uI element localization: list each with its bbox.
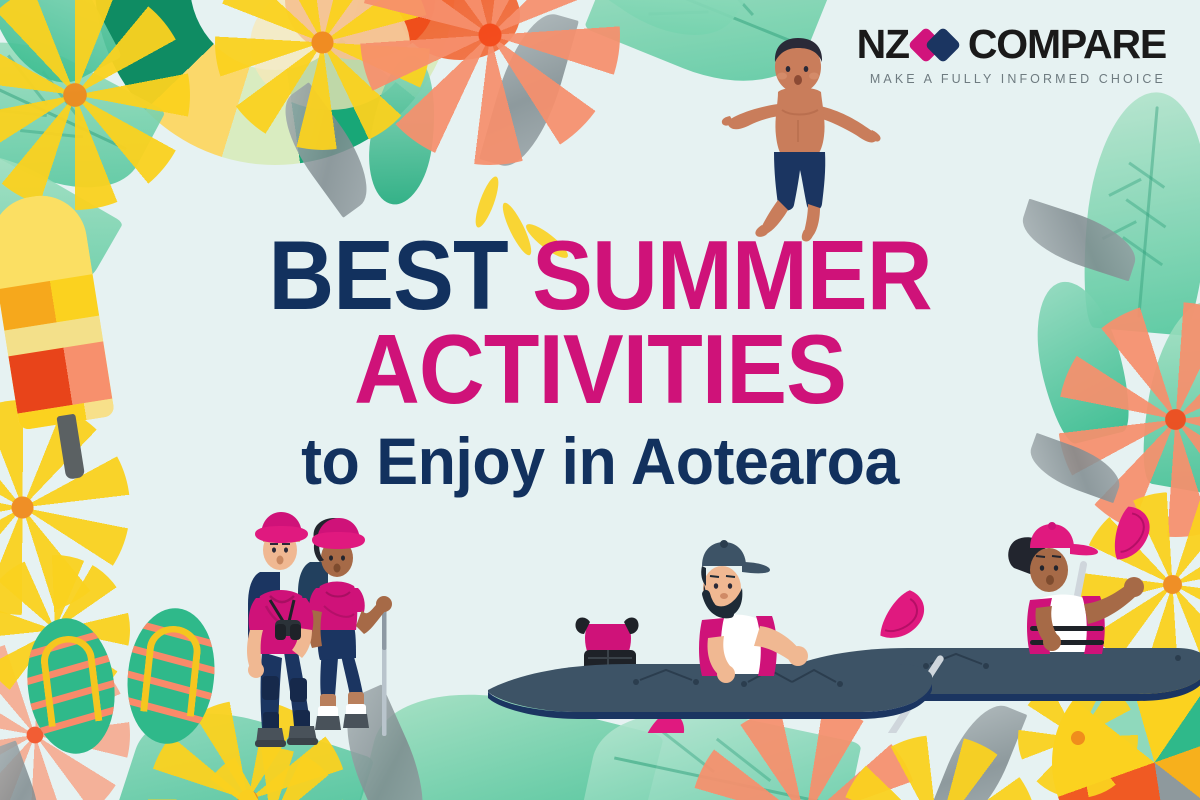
ring-orange-accent-2: [285, 0, 435, 60]
green-leaf: [0, 0, 122, 101]
yellow-daisy: [215, 0, 430, 150]
headline-line-1: BEST SUMMER: [42, 228, 1158, 322]
diamond-logo-icon: [913, 28, 965, 62]
poster-canvas: NZ COMPARE MAKE A FULLY INFORMED CHOICE: [0, 0, 1200, 800]
hikers-group: [232, 500, 427, 755]
logo-text-compare: COMPARE: [968, 24, 1166, 65]
green-leaf: [362, 51, 444, 208]
beach-ball-top-left: [95, 0, 455, 165]
ring-orange-accent: [400, 0, 520, 60]
grey-leaf: [267, 82, 385, 218]
yellow-daisy: [838, 735, 1038, 800]
yellow-daisy: [196, 748, 346, 800]
kayakers-group: [478, 498, 1200, 733]
jumping-swimmer: [700, 12, 900, 242]
ring-cream-accent: [250, 0, 410, 110]
logo-wordmark: NZ COMPARE: [857, 24, 1166, 65]
coral-daisy: [360, 0, 620, 165]
yellow-daisy: [0, 555, 130, 705]
green-leaf: [0, 13, 166, 218]
grey-leaf: [479, 5, 579, 175]
coral-daisy: [0, 640, 130, 800]
nz-compare-logo[interactable]: NZ COMPARE MAKE A FULLY INFORMED CHOICE: [857, 24, 1166, 86]
grey-leaf: [0, 740, 53, 800]
headline-line-2: ACTIVITIES: [42, 322, 1158, 416]
logo-tagline: MAKE A FULLY INFORMED CHOICE: [857, 72, 1166, 86]
headline-line-3: to Enjoy in Aotearoa: [30, 430, 1170, 493]
headline: BEST SUMMER ACTIVITIES to Enjoy in Aotea…: [0, 228, 1200, 494]
yellow-daisy: [0, 0, 190, 210]
